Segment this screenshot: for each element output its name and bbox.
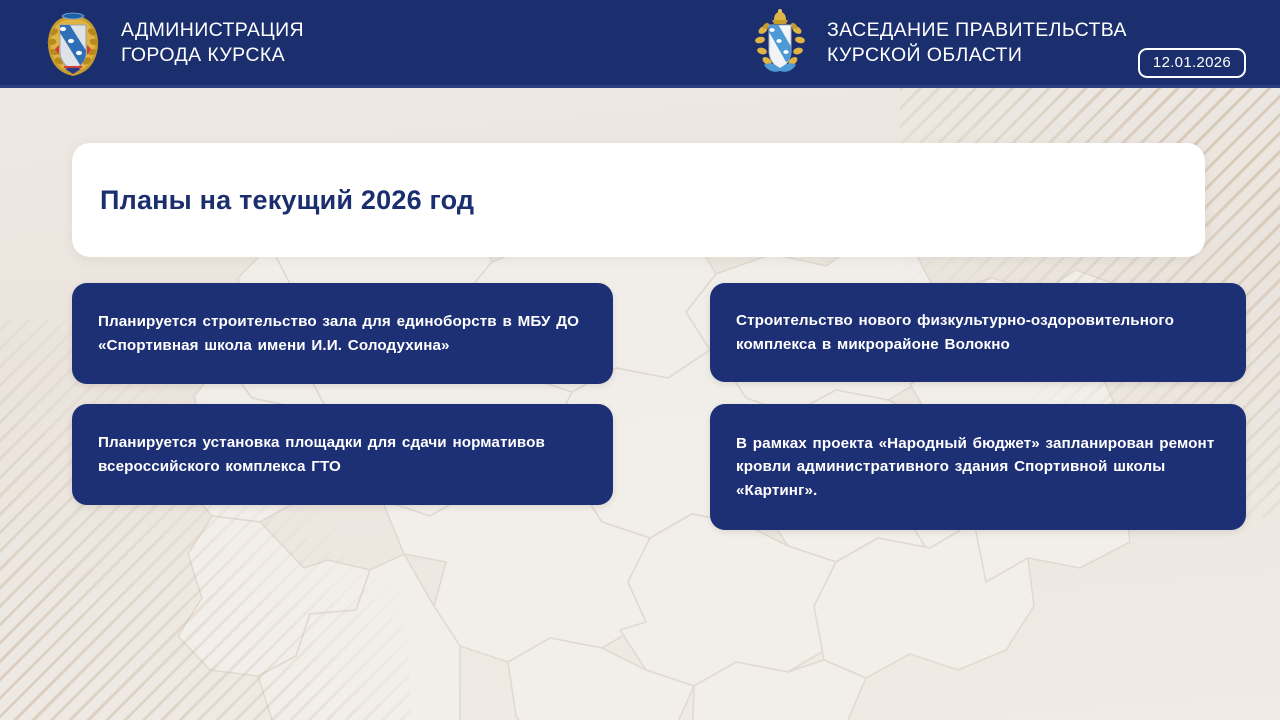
header-right-branding: ЗАСЕДАНИЕ ПРАВИТЕЛЬСТВА КУРСКОЙ ОБЛАСТИ …	[640, 0, 1280, 85]
plan-card-martial-arts-hall[interactable]: Планируется строительство зала для едино…	[72, 283, 613, 384]
header-left-branding: АДМИНИСТРАЦИЯ ГОРОДА КУРСКА	[0, 0, 640, 85]
kursk-region-coat-of-arms-icon	[750, 7, 810, 79]
city-title-line-1: АДМИНИСТРАЦИЯ	[121, 18, 304, 43]
plan-card-text: Строительство нового физкультурно-оздоро…	[736, 309, 1220, 355]
region-title-block: ЗАСЕДАНИЕ ПРАВИТЕЛЬСТВА КУРСКОЙ ОБЛАСТИ	[827, 18, 1127, 68]
meeting-date-badge: 12.01.2026	[1138, 48, 1246, 78]
city-title-line-2: ГОРОДА КУРСКА	[121, 43, 304, 68]
plan-card-karting-roof-repair[interactable]: В рамках проекта «Народный бюджет» запла…	[710, 404, 1246, 530]
region-title-line-1: ЗАСЕДАНИЕ ПРАВИТЕЛЬСТВА	[827, 18, 1127, 43]
presentation-slide: АДМИНИСТРАЦИЯ ГОРОДА КУРСКА	[0, 0, 1280, 720]
plan-card-text: Планируется установка площадки для сдачи…	[98, 431, 587, 477]
region-title-line-2: КУРСКОЙ ОБЛАСТИ	[827, 43, 1127, 68]
page-title: Планы на текущий 2026 год	[100, 185, 474, 216]
plan-card-text: В рамках проекта «Народный бюджет» запла…	[736, 432, 1220, 501]
slide-title-card: Планы на текущий 2026 год	[72, 143, 1205, 257]
plan-card-sports-complex-volokno[interactable]: Строительство нового физкультурно-оздоро…	[710, 283, 1246, 382]
city-title-block: АДМИНИСТРАЦИЯ ГОРОДА КУРСКА	[121, 18, 304, 68]
plan-card-text: Планируется строительство зала для едино…	[98, 310, 587, 356]
kursk-city-coat-of-arms-icon	[42, 8, 104, 78]
slide-header: АДМИНИСТРАЦИЯ ГОРОДА КУРСКА	[0, 0, 1280, 88]
plan-card-gto-platform[interactable]: Планируется установка площадки для сдачи…	[72, 404, 613, 505]
